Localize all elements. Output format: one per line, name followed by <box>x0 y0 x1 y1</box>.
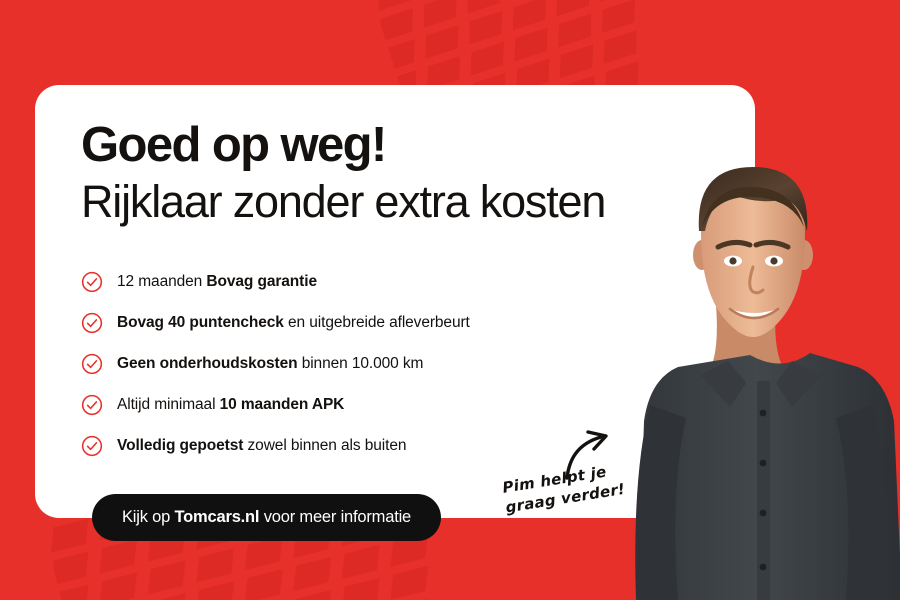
page-subtitle: Rijklaar zonder extra kosten <box>81 179 605 224</box>
checklist-item-1: 12 maanden Bovag garantie <box>81 261 701 302</box>
check-circle-icon <box>81 312 103 334</box>
checklist-item-2: Bovag 40 puntencheck en uitgebreide afle… <box>81 302 701 343</box>
check-circle-icon <box>81 353 103 375</box>
promo-banner: Goed op weg! Rijklaar zonder extra koste… <box>0 0 900 600</box>
checklist-item-4: Altijd minimaal 10 maanden APK <box>81 384 701 425</box>
check-circle-icon <box>81 435 103 457</box>
check-circle-icon <box>81 394 103 416</box>
salesperson-photo <box>620 155 900 600</box>
handwritten-note: Pim helpt je graag verder! <box>501 468 636 536</box>
check-circle-icon <box>81 271 103 293</box>
checklist-item-3: Geen onderhoudskosten binnen 10.000 km <box>81 343 701 384</box>
checklist-item-label: 12 maanden Bovag garantie <box>117 273 317 291</box>
cta-button[interactable]: Kijk op Tomcars.nl voor meer informatie <box>92 494 441 541</box>
checklist-item-label: Geen onderhoudskosten binnen 10.000 km <box>117 355 423 373</box>
checklist-item-label: Altijd minimaal 10 maanden APK <box>117 396 344 414</box>
page-title: Goed op weg! <box>81 121 386 170</box>
checklist-item-label: Volledig gepoetst zowel binnen als buite… <box>117 437 406 455</box>
cta-label: Kijk op Tomcars.nl voor meer informatie <box>122 508 411 527</box>
checklist-item-label: Bovag 40 puntencheck en uitgebreide afle… <box>117 314 470 332</box>
